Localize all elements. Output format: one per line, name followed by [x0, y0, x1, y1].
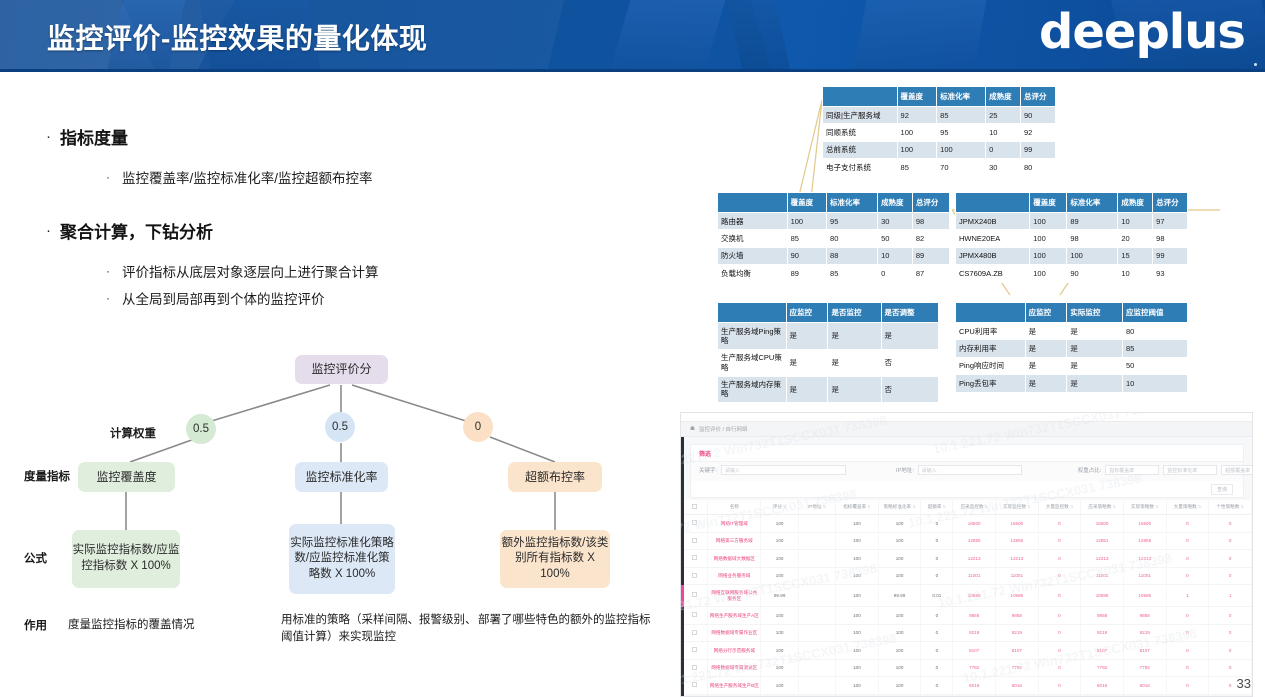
th-col-8[interactable]: 实际监控数 ⇅ [996, 500, 1039, 515]
cell-value: 30 [986, 159, 1021, 176]
row-checkbox[interactable] [692, 612, 697, 617]
filter-panel-title: 筛选 [691, 445, 1243, 461]
th-col-7[interactable]: 应采监控数 ⇅ [953, 500, 996, 515]
th-col-11[interactable]: 实际策略数 ⇅ [1123, 500, 1166, 515]
cell-name[interactable]: 网络数据域大数据区 [708, 550, 761, 568]
th-coverage: 覆盖度 [897, 87, 937, 107]
cell-name[interactable]: 网络IT管理域 [708, 515, 761, 533]
cell-score: 100 [761, 515, 798, 533]
cell-value: 80 [827, 230, 878, 247]
slide-root: 监控评价-监控效果的量化体现 deeplus · 指标度量 · 监控覆盖率/监控… [0, 0, 1265, 697]
cell-value: 98 [1067, 230, 1118, 247]
cell-value: 是 [828, 323, 881, 350]
logo-dot [1254, 63, 1257, 66]
cell-ext: 0 [921, 624, 953, 642]
cell-value: 是 [1025, 375, 1067, 392]
cell-n5: 16500 [1123, 515, 1166, 533]
cell-label: 内存利用率 [956, 340, 1026, 357]
cell-ip [798, 550, 835, 568]
table-row: 同顺系统100951092 [823, 124, 1056, 141]
cell-value: 0 [986, 141, 1021, 158]
cell-n4: 6016 [1081, 677, 1124, 695]
filter-row: 关键字: 请输入 IP地址: 请输入 权重占比: 指标覆盖率 监控标准化率 超额… [691, 461, 1243, 481]
table-row: 防火墙90881089 [718, 247, 950, 264]
cell-ip [798, 532, 835, 550]
cell-value: 85 [787, 230, 826, 247]
th-actual-monitor: 实际监控 [1067, 303, 1123, 323]
th-is-monitored: 是否监控 [828, 303, 881, 323]
cell-n3: 0 [1038, 515, 1081, 533]
cell-std: 100 [878, 607, 921, 625]
cell-std: 99.99 [878, 585, 921, 607]
cell-ext: 0 [921, 677, 953, 695]
cell-n2: 6016 [996, 677, 1039, 695]
row-checkbox[interactable] [692, 520, 697, 525]
cell-n1: 16500 [953, 515, 996, 533]
cell-value: 89 [912, 247, 949, 264]
cell-ip [798, 567, 835, 585]
diagram-effect-coverage: 度量监控指标的覆盖情况 [68, 617, 258, 634]
cell-n6: 1 [1166, 585, 1209, 607]
cell-label: Ping丢包率 [956, 375, 1026, 392]
table-row: 总前系统100100099 [823, 141, 1056, 158]
th-should-monitor: 应监控 [1025, 303, 1067, 323]
cell-value: 15 [1118, 247, 1153, 264]
cell-n7: 0 [1209, 567, 1252, 585]
cell-n6: 0 [1166, 607, 1209, 625]
cell-value: 100 [897, 141, 937, 158]
th-standardization: 标准化率 [937, 87, 986, 107]
cell-n5: 11001 [1123, 567, 1166, 585]
cell-n3: 0 [1038, 659, 1081, 677]
cell-ext: 0 [921, 532, 953, 550]
sort-icon[interactable]: ⇅ [1154, 504, 1158, 509]
cell-label: 路由器 [718, 213, 788, 230]
th-col-1[interactable]: 名称 [708, 500, 761, 515]
table-row: 电子支付系统85703080 [823, 159, 1056, 176]
cell-value: 是 [828, 349, 881, 376]
row-label-effect: 作用 [24, 617, 47, 633]
weight-label: 权重占比: [1078, 466, 1102, 474]
th-col-12[interactable]: 大量策略数 ⇅ [1166, 500, 1209, 515]
table-row: 生产服务域内存策略是是否 [718, 376, 939, 403]
cell-value: 是 [786, 349, 828, 376]
cell-value: 是 [1067, 323, 1123, 340]
cell-ext: 0 [921, 515, 953, 533]
cell-cov: 100 [836, 659, 879, 677]
cell-n3: 0 [1038, 532, 1081, 550]
cell-n5: 12855 [1123, 532, 1166, 550]
cell-value: 30 [878, 213, 913, 230]
cell-ip [798, 607, 835, 625]
cell-value: 85 [1123, 340, 1188, 357]
row-checkbox[interactable] [692, 682, 697, 687]
th-coverage: 覆盖度 [787, 193, 826, 213]
results-table-header-row: 名称评分 ⇅IP地址 ⇅指标覆盖率 ⇅策略标准化率 ⇅超额率 ⇅应采监控数 ⇅实… [681, 500, 1252, 515]
header-facet-4 [727, 0, 790, 72]
sort-icon[interactable]: ⇅ [782, 504, 786, 509]
cell-label: 电子支付系统 [823, 159, 898, 176]
row-checkbox[interactable] [692, 538, 697, 543]
cell-label: 生产服务域内存策略 [718, 376, 787, 403]
sort-icon[interactable]: ⇅ [1197, 504, 1201, 509]
row-checkbox-cell[interactable] [681, 550, 708, 568]
row-checkbox-cell[interactable] [681, 677, 708, 695]
cell-n3: 0 [1038, 677, 1081, 695]
table-devicetype-scores: 覆盖度 标准化率 成熟度 总评分 路由器100953098 交换机8580508… [717, 192, 950, 283]
cell-n3: 0 [1038, 642, 1081, 660]
diagram-node-root: 监控评价分 [295, 355, 388, 384]
th-maturity: 成熟度 [1118, 193, 1153, 213]
cell-value: 80 [1123, 323, 1188, 340]
table-row: JPMX240B100891097 [956, 213, 1188, 230]
cell-value: 是 [1067, 375, 1123, 392]
cell-value: 98 [1153, 230, 1188, 247]
cell-label: 总前系统 [823, 141, 898, 158]
cell-score: 100 [761, 607, 798, 625]
select-all-checkbox[interactable] [692, 504, 697, 509]
table-row[interactable]: 网络生产服务域生产B区10010010006016601606016601600 [681, 677, 1252, 695]
cell-n5: 9858 [1123, 607, 1166, 625]
cell-n7: 1 [1209, 585, 1252, 607]
cell-cov: 100 [836, 585, 879, 607]
sort-icon[interactable]: ⇅ [942, 504, 946, 509]
sort-icon[interactable]: ⇅ [866, 504, 870, 509]
cell-score: 100 [761, 677, 798, 695]
diagram-node-excess: 超额布控率 [508, 462, 602, 492]
cell-label: 生产服务域Ping策略 [718, 323, 787, 350]
cell-n3: 0 [1038, 550, 1081, 568]
cell-std: 100 [878, 624, 921, 642]
cell-value: 25 [986, 107, 1021, 124]
sort-icon[interactable]: ⇅ [1111, 504, 1115, 509]
filter-panel: 筛选 关键字: 请输入 IP地址: 请输入 权重占比: 指标覆盖率 监控标准化率… [690, 444, 1244, 498]
table-row: CPU利用率是是80 [956, 323, 1188, 340]
th-blank [956, 303, 1026, 323]
cell-std: 100 [878, 532, 921, 550]
th-maturity: 成熟度 [986, 87, 1021, 107]
cell-value: 100 [1030, 230, 1067, 247]
cell-value: 100 [897, 124, 937, 141]
cell-n6: 0 [1166, 532, 1209, 550]
weight-field-group: 权重占比: 指标覆盖率 监控标准化率 超额覆盖率 [1078, 465, 1253, 475]
cell-score: 100 [761, 659, 798, 677]
breadcrumb[interactable]: ☗ 监控评价 / 自行网络 [681, 422, 1252, 437]
cell-name[interactable]: 网络数据域专属作业区 [708, 624, 761, 642]
cell-name[interactable]: 网络生产服务域生产A区 [708, 607, 761, 625]
diagram-formula-coverage: 实际监控指标数/应监控指标数 X 100% [72, 530, 180, 588]
th-standardization: 标准化率 [1067, 193, 1118, 213]
table-row: 同级|生产服务域92852590 [823, 107, 1056, 124]
table-threshold: 应监控 实际监控 应监控阀值 CPU利用率是是80 内存利用率是是85 Ping… [955, 302, 1188, 393]
cell-value: 是 [1067, 340, 1123, 357]
diagram-weight-standardization: 0.5 [325, 412, 355, 442]
cell-n6: 0 [1166, 515, 1209, 533]
cell-value: 90 [787, 247, 826, 264]
webapp-screenshot: ☗ 监控评价 / 自行网络 筛选 关键字: 请输入 IP地址: 请输入 权重占比… [680, 412, 1253, 697]
breadcrumb-home-icon: ☗ [690, 426, 695, 432]
cell-name[interactable]: 网络生产服务域生产B区 [708, 677, 761, 695]
cell-std: 100 [878, 567, 921, 585]
table-row: 生产服务域Ping策略是是是 [718, 323, 939, 350]
cell-score: 100 [761, 550, 798, 568]
results-table-body: 网络IT管理域100100100016500165000165001650000… [681, 515, 1252, 695]
th-blank [823, 87, 898, 107]
cell-n4: 10586 [1081, 585, 1124, 607]
cell-name[interactable]: 网络互联网服务域公共服务区 [708, 585, 761, 607]
cell-value: 88 [827, 247, 878, 264]
cell-score: 99.99 [761, 585, 798, 607]
th-col-3[interactable]: IP地址 ⇅ [798, 500, 835, 515]
table-row: 内存利用率是是85 [956, 340, 1188, 357]
table-domain-scores-grid: 覆盖度 标准化率 成熟度 总评分 同级|生产服务域92852590 同顺系统10… [822, 86, 1056, 177]
th-col-13[interactable]: 个性策略数 ⇅ [1209, 500, 1252, 515]
cell-n6: 0 [1166, 642, 1209, 660]
cell-std: 100 [878, 642, 921, 660]
row-checkbox[interactable] [692, 555, 697, 560]
filter-actions: 查询 [691, 481, 1243, 497]
keyword-field-group: 关键字: 请输入 [699, 465, 846, 475]
table-row: 覆盖度 标准化率 成熟度 总评分 [718, 193, 950, 213]
cell-value: 10 [878, 247, 913, 264]
cell-value: 50 [1123, 357, 1188, 374]
cell-name[interactable]: 网络第三方服务域 [708, 532, 761, 550]
results-table: 名称评分 ⇅IP地址 ⇅指标覆盖率 ⇅策略标准化率 ⇅超额率 ⇅应采监控数 ⇅实… [681, 500, 1252, 695]
table-row: 覆盖度 标准化率 成熟度 总评分 [956, 193, 1188, 213]
cell-ext: 0 [921, 567, 953, 585]
table-row[interactable]: 网络数据域大数据区1001001000122131221301221312213… [681, 550, 1252, 568]
diagram-node-standardization: 监控标准化率 [295, 462, 388, 492]
row-checkbox[interactable] [692, 665, 697, 670]
cell-label: 负载均衡 [718, 265, 788, 282]
th-col-5[interactable]: 策略标准化率 ⇅ [878, 500, 921, 515]
sort-icon[interactable]: ⇅ [1026, 504, 1030, 509]
table-row[interactable]: 网络互联网服务域公共服务区99.9910099.990.011058610586… [681, 585, 1252, 607]
cell-n5: 10585 [1123, 585, 1166, 607]
table-row: Ping丢包率是是10 [956, 375, 1188, 392]
row-checkbox-cell[interactable] [681, 624, 708, 642]
cell-score: 100 [761, 642, 798, 660]
keyword-input[interactable]: 请输入 [721, 465, 846, 475]
table-row: 覆盖度 标准化率 成熟度 总评分 [823, 87, 1056, 107]
cell-ext: 0 [921, 550, 953, 568]
cell-ext: 0.01 [921, 585, 953, 607]
table-device-scores-grid: 覆盖度 标准化率 成熟度 总评分 JPMX240B100891097 HWNE2… [955, 192, 1188, 283]
cell-n6: 0 [1166, 624, 1209, 642]
cell-value: 是 [1025, 340, 1067, 357]
cell-n6: 0 [1166, 567, 1209, 585]
header-facet-5 [854, 0, 987, 72]
cell-n4: 16500 [1081, 515, 1124, 533]
row-checkbox-cell[interactable] [681, 642, 708, 660]
cell-n7: 0 [1209, 659, 1252, 677]
row-checkbox-cell[interactable] [681, 515, 708, 533]
cell-score: 100 [761, 532, 798, 550]
table-row[interactable]: 网络IT管理域100100100016500165000165001650000 [681, 515, 1252, 533]
cell-n2: 16500 [996, 515, 1039, 533]
diagram-effect-excess: 部署了哪些特色的额外的监控指标 [478, 612, 668, 629]
th-standardization: 标准化率 [827, 193, 878, 213]
cell-n1: 6016 [953, 677, 996, 695]
cell-value: 98 [912, 213, 949, 230]
webapp-topbar [681, 413, 1252, 422]
th-maturity: 成熟度 [878, 193, 913, 213]
cell-name[interactable]: 网络分行示范服务域 [708, 642, 761, 660]
cell-n1: 7792 [953, 659, 996, 677]
cell-value: 90 [1021, 107, 1056, 124]
sort-icon[interactable]: ⇅ [911, 504, 915, 509]
table-policy-grid: 应监控 是否监控 是否调整 生产服务域Ping策略是是是 生产服务域CPU策略是… [717, 302, 939, 403]
sort-icon[interactable]: ⇅ [821, 504, 825, 509]
cell-label: 交换机 [718, 230, 788, 247]
th-col-10[interactable]: 应采策略数 ⇅ [1081, 500, 1124, 515]
diagram-effect-standardization: 用标准的策略（采样间隔、报警级别、阈值计算）来实现监控 [281, 612, 481, 647]
cell-value: 95 [937, 124, 986, 141]
cell-n5: 7792 [1123, 659, 1166, 677]
cell-n4: 9219 [1081, 624, 1124, 642]
cell-label: 同顺系统 [823, 124, 898, 141]
row-checkbox-cell[interactable] [681, 607, 708, 625]
row-checkbox[interactable] [692, 630, 697, 635]
cell-n2: 12855 [996, 532, 1039, 550]
cell-value: 90 [1067, 265, 1118, 282]
cell-name[interactable]: 网络业务服务域 [708, 567, 761, 585]
cell-value: 89 [787, 265, 826, 282]
cell-n2: 7792 [996, 659, 1039, 677]
cell-value: 是 [786, 323, 828, 350]
cell-n2: 9858 [996, 607, 1039, 625]
sort-icon[interactable]: ⇅ [1239, 504, 1243, 509]
th-col-4[interactable]: 指标覆盖率 ⇅ [836, 500, 879, 515]
row-checkbox-cell[interactable] [681, 532, 708, 550]
table-row[interactable]: 网络数据域专属作业区10010010009219921909219921900 [681, 624, 1252, 642]
ip-input[interactable]: 请输入 [918, 465, 1022, 475]
row-checkbox-cell[interactable] [681, 659, 708, 677]
row-checkbox-cell[interactable] [681, 585, 708, 607]
table-row[interactable]: 网络数据域专属测试区10010010007792779207792779200 [681, 659, 1252, 677]
cell-value: 100 [787, 213, 826, 230]
weight-standardization-input[interactable]: 监控标准化率 [1163, 465, 1217, 475]
deeplus-logo: deeplus [1039, 8, 1245, 56]
table-policy: 应监控 是否监控 是否调整 生产服务域Ping策略是是是 生产服务域CPU策略是… [717, 302, 939, 403]
th-select-all[interactable] [681, 500, 708, 515]
table-domain-scores: 覆盖度 标准化率 成熟度 总评分 同级|生产服务域92852590 同顺系统10… [822, 86, 1056, 177]
th-threshold: 应监控阀值 [1123, 303, 1188, 323]
cell-n5: 12213 [1123, 550, 1166, 568]
cell-ip [798, 642, 835, 660]
table-row: Ping响应时间是是50 [956, 357, 1188, 374]
cell-value: 100 [1030, 213, 1067, 230]
cell-n1: 11001 [953, 567, 996, 585]
ip-field-group: IP地址: 请输入 [896, 465, 1022, 475]
cell-cov: 100 [836, 607, 879, 625]
cell-n4: 12851 [1081, 532, 1124, 550]
cell-n7: 0 [1209, 642, 1252, 660]
cell-label: 生产服务域CPU策略 [718, 349, 787, 376]
cell-n7: 0 [1209, 515, 1252, 533]
table-device-scores: 覆盖度 标准化率 成熟度 总评分 JPMX240B100891097 HWNE2… [955, 192, 1188, 283]
cell-n3: 0 [1038, 585, 1081, 607]
row-checkbox-cell[interactable] [681, 567, 708, 585]
diagram-formula-excess: 额外监控指标数/该类别所有指标数 X 100% [500, 530, 610, 588]
cell-n2: 10586 [996, 585, 1039, 607]
weight-excess-input[interactable]: 超额覆盖率 [1221, 465, 1253, 475]
cell-n1: 8107 [953, 642, 996, 660]
cell-n3: 0 [1038, 624, 1081, 642]
ip-label: IP地址: [896, 466, 914, 474]
cell-n1: 10586 [953, 585, 996, 607]
cell-n1: 9219 [953, 624, 996, 642]
cell-value: 100 [937, 141, 986, 158]
sort-icon[interactable]: ⇅ [1069, 504, 1073, 509]
cell-n7: 0 [1209, 624, 1252, 642]
row-label-weight: 计算权重 [110, 425, 156, 441]
cell-value: 是 [1025, 357, 1067, 374]
cell-ip [798, 659, 835, 677]
cell-ip [798, 515, 835, 533]
cell-label: 防火墙 [718, 247, 788, 264]
cell-value: 85 [937, 107, 986, 124]
search-button[interactable]: 查询 [1211, 484, 1233, 495]
th-col-6[interactable]: 超额率 ⇅ [921, 500, 953, 515]
cell-name[interactable]: 网络数据域专属测试区 [708, 659, 761, 677]
cell-value: 否 [881, 376, 938, 403]
cell-value: 95 [827, 213, 878, 230]
cell-value: 0 [878, 265, 913, 282]
th-total: 总评分 [1021, 87, 1056, 107]
table-row[interactable]: 网络生产服务域生产A区10010010009858985809858985800 [681, 607, 1252, 625]
table-row[interactable]: 网络第三方服务域10010010001285512855012851128550… [681, 532, 1252, 550]
row-checkbox[interactable] [692, 592, 697, 597]
cell-score: 100 [761, 624, 798, 642]
sort-icon[interactable]: ⇅ [983, 504, 987, 509]
cell-label: CPU利用率 [956, 323, 1026, 340]
cell-value: 是 [786, 376, 828, 403]
th-col-2[interactable]: 评分 ⇅ [761, 500, 798, 515]
cell-label: HWNE20EA [956, 230, 1030, 247]
cell-value: 10 [1118, 265, 1153, 282]
weight-coverage-input[interactable]: 指标覆盖率 [1105, 465, 1159, 475]
cell-n4: 11001 [1081, 567, 1124, 585]
cell-n3: 0 [1038, 567, 1081, 585]
cell-n2: 9219 [996, 624, 1039, 642]
row-checkbox[interactable] [692, 573, 697, 578]
cell-ext: 0 [921, 659, 953, 677]
cell-value: 是 [1067, 357, 1123, 374]
th-col-9[interactable]: 大量监控数 ⇅ [1038, 500, 1081, 515]
row-checkbox[interactable] [692, 647, 697, 652]
sidebar-rail[interactable] [681, 437, 684, 697]
th-total: 总评分 [912, 193, 949, 213]
cell-cov: 100 [836, 642, 879, 660]
cell-ip [798, 624, 835, 642]
cell-n6: 0 [1166, 659, 1209, 677]
diagram-weight-excess: 0 [463, 412, 493, 442]
cell-n6: 0 [1166, 677, 1209, 695]
page-number: 33 [1237, 676, 1251, 691]
cell-ip [798, 585, 835, 607]
table-row[interactable]: 网络分行示范服务域10010010008107810708107810700 [681, 642, 1252, 660]
table-row: 交换机85805082 [718, 230, 950, 247]
table-devicetype-scores-grid: 覆盖度 标准化率 成熟度 总评分 路由器100953098 交换机8580508… [717, 192, 950, 283]
table-row: 负载均衡8985087 [718, 265, 950, 282]
cell-value: 是 [881, 323, 938, 350]
cell-n4: 7792 [1081, 659, 1124, 677]
table-row[interactable]: 网络业务服务域100100100011001110010110011100100 [681, 567, 1252, 585]
cell-ext: 0 [921, 607, 953, 625]
cell-value: 100 [1067, 247, 1118, 264]
th-coverage: 覆盖度 [1030, 193, 1067, 213]
